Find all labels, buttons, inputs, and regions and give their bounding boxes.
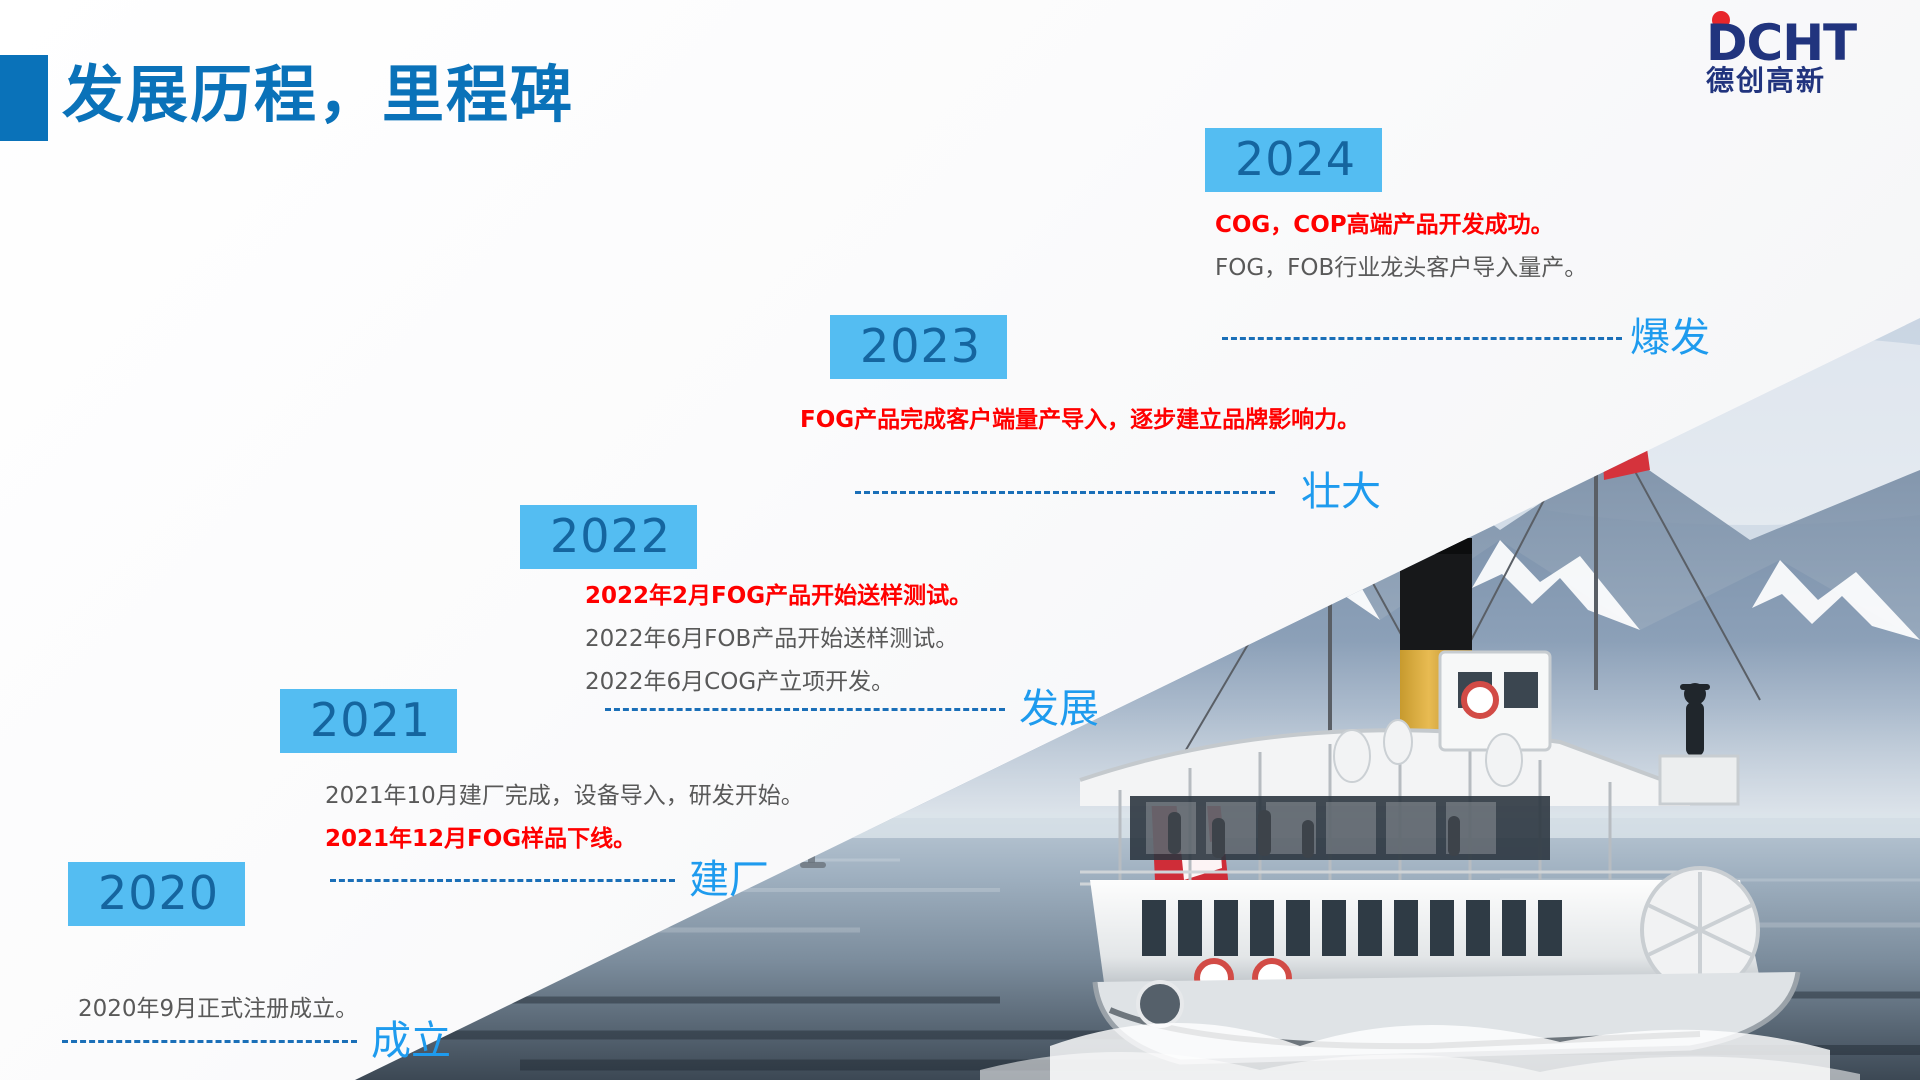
milestone-2021-lines: 2021年10月建厂完成，设备导入，研发开始。 2021年12月FOG样品下线。 [325,775,804,861]
milestone-line: COG，COP高端产品开发成功。 [1215,204,1587,247]
milestone-2024: 2024 COG，COP高端产品开发成功。 FOG，FOB行业龙头客户导入量产。 [1205,128,1587,290]
title-accent-bar [0,55,48,141]
year-badge-2022[interactable]: 2022 [520,505,697,569]
stage-label-2021: 建厂 [689,860,769,900]
milestone-line: 2021年10月建厂完成，设备导入，研发开始。 [325,775,804,818]
connector-2021: 建厂 [330,860,769,900]
dashed-line [855,491,1275,494]
milestone-line: 2022年2月FOG产品开始送样测试。 [585,575,972,618]
page-title: 发展历程，里程碑 [62,44,574,134]
slide-canvas: 发展历程，里程碑 DCHT 德创高新 2024 COG，COP高端产品开发成功。… [0,0,1920,1080]
milestone-2021: 2021 2021年10月建厂完成，设备导入，研发开始。 2021年12月FOG… [280,689,804,861]
company-logo: DCHT 德创高新 [1704,8,1894,94]
connector-2020: 成立 [62,1021,451,1061]
stage-label-2024: 爆发 [1630,318,1710,358]
svg-text:德创高新: 德创高新 [1706,64,1826,94]
milestone-2024-lines: COG，COP高端产品开发成功。 FOG，FOB行业龙头客户导入量产。 [1215,204,1587,290]
year-badge-2023[interactable]: 2023 [830,315,1007,379]
milestone-2022-lines: 2022年2月FOG产品开始送样测试。 2022年6月FOB产品开始送样测试。 … [585,575,972,704]
stage-label-2020: 成立 [371,1021,451,1061]
milestone-line: 2022年6月FOB产品开始送样测试。 [585,618,972,661]
milestone-2022: 2022 2022年2月FOG产品开始送样测试。 2022年6月FOB产品开始送… [520,505,972,704]
milestone-line: FOG产品完成客户端量产导入，逐步建立品牌影响力。 [800,399,1360,442]
stage-label-2022: 发展 [1019,689,1099,729]
milestone-line: FOG，FOB行业龙头客户导入量产。 [1215,247,1587,290]
milestone-2023-lines: FOG产品完成客户端量产导入，逐步建立品牌影响力。 [800,399,1360,442]
year-badge-2020[interactable]: 2020 [68,862,245,926]
year-badge-2021[interactable]: 2021 [280,689,457,753]
stage-label-2023: 壮大 [1301,472,1381,512]
dashed-line [62,1040,357,1043]
milestone-line: 2021年12月FOG样品下线。 [325,818,804,861]
dashed-line [330,879,675,882]
year-badge-2024[interactable]: 2024 [1205,128,1382,192]
milestone-2023: 2023 FOG产品完成客户端量产导入，逐步建立品牌影响力。 [830,315,1360,442]
milestone-2020: 2020 2020年9月正式注册成立。 [68,862,358,1031]
